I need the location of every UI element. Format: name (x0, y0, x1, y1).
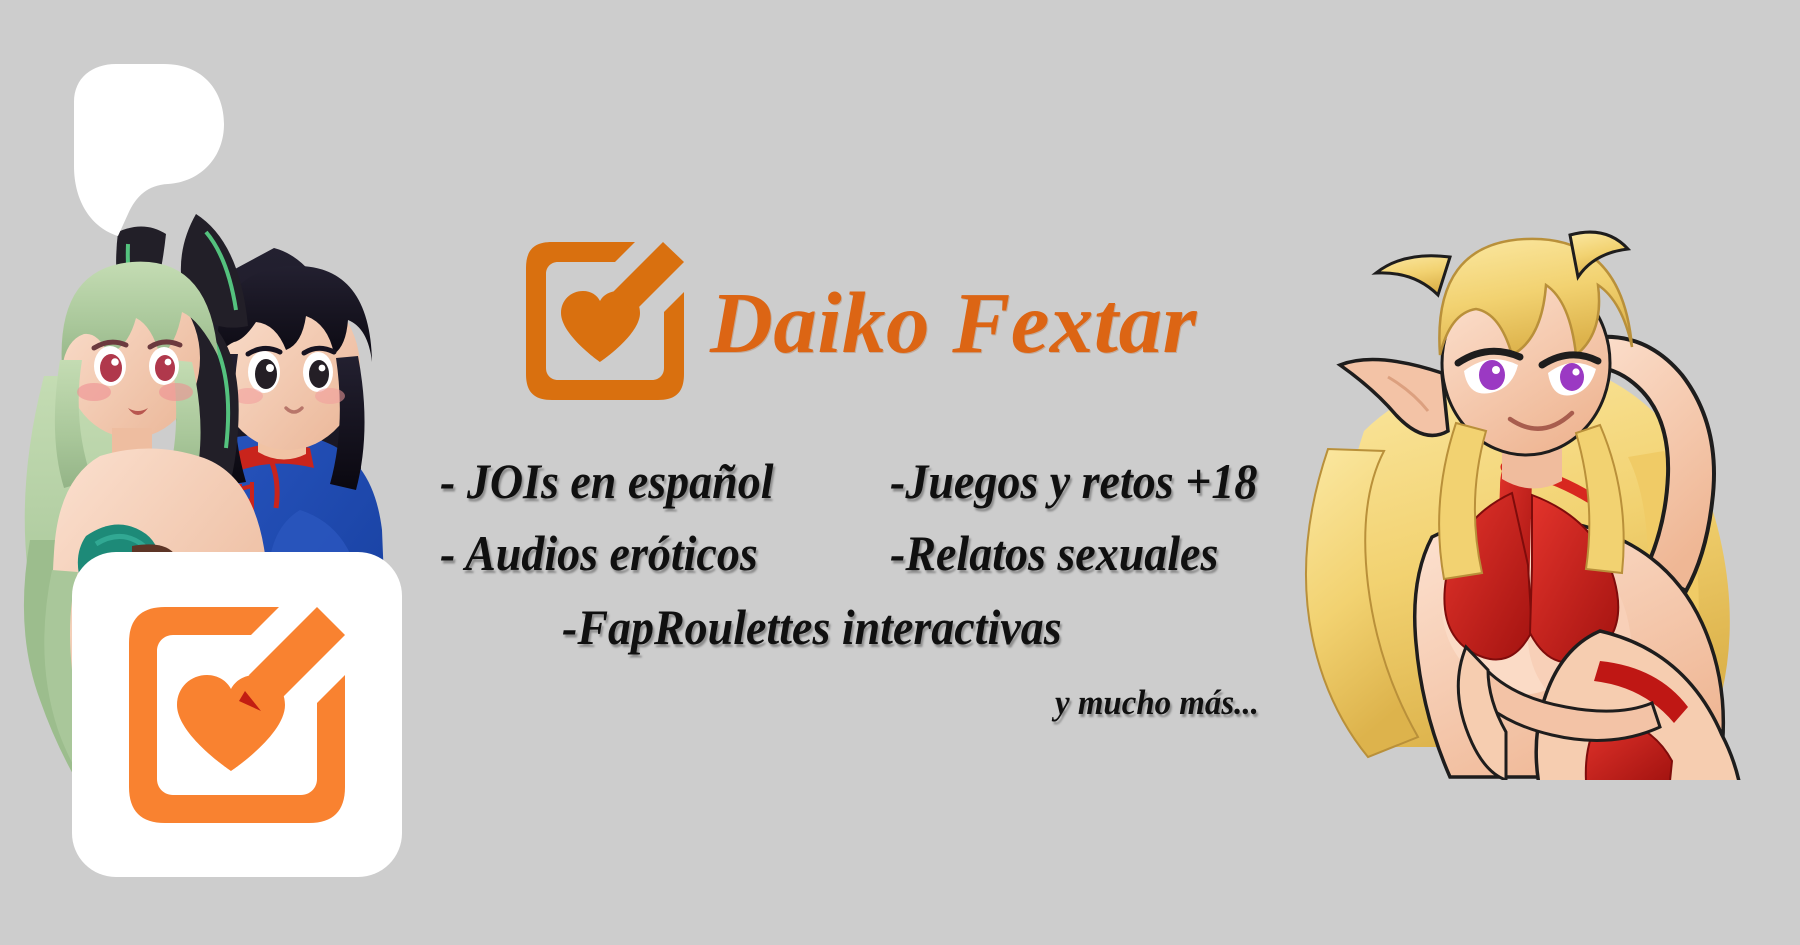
avatar[interactable] (72, 552, 402, 877)
page-title: Daiko Fextar (710, 279, 1197, 366)
list-item: -Relatos sexuales (890, 524, 1218, 582)
list-item: -Juegos y retos +18 (890, 452, 1257, 510)
list-item: - JOIs en español (440, 452, 774, 510)
patreon-p-icon (72, 62, 224, 237)
channel-banner: Daiko Fextar - JOIs en español -Juegos y… (0, 0, 1800, 945)
checkbox-heart-pencil-icon (520, 236, 688, 408)
list-item-more: y mucho más... (1055, 683, 1259, 723)
checkbox-heart-pencil-icon (121, 599, 353, 831)
brand-row: Daiko Fextar (520, 236, 1197, 408)
list-item-faproulettes: -FapRoulettes interactivas (562, 598, 1062, 656)
right-artwork (1270, 195, 1800, 780)
list-item: - Audios eróticos (440, 524, 758, 582)
